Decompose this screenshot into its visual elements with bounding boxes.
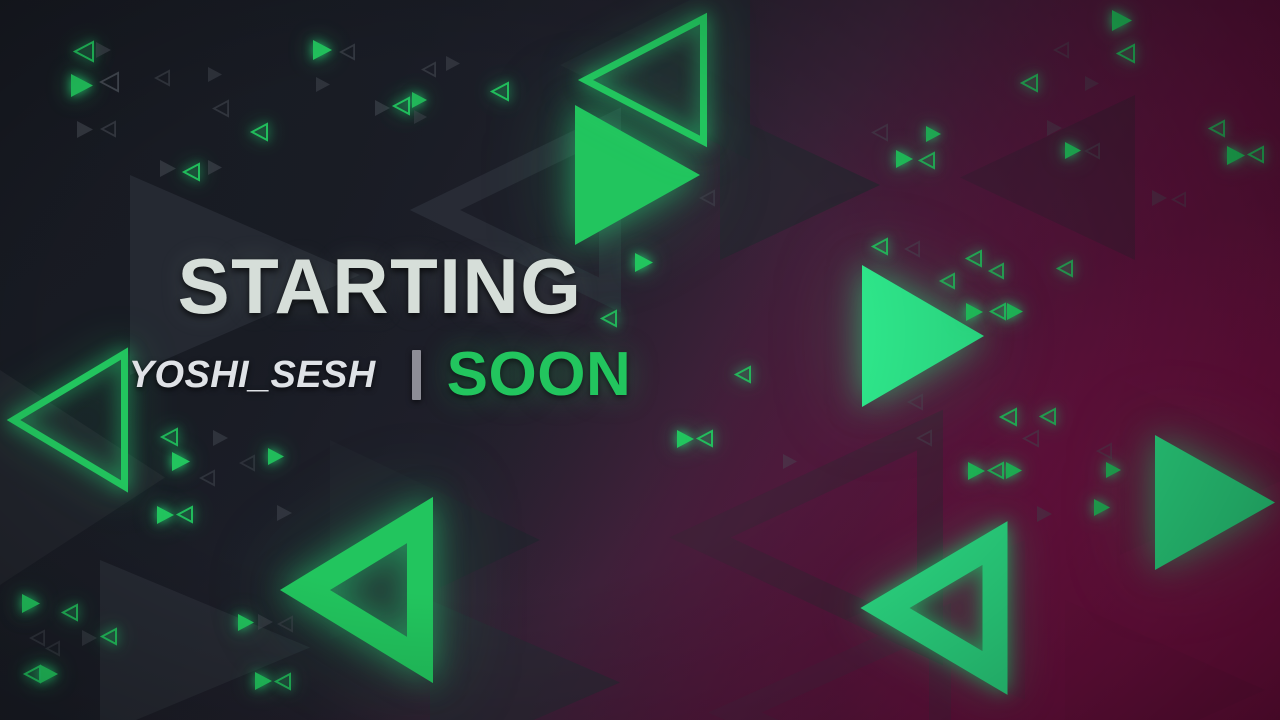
page-title: STARTING [178, 248, 583, 324]
stream-overlay-canvas: STARTING YOSHI_SESH SOON [0, 0, 1280, 720]
divider-bar [412, 350, 421, 400]
headline-block: STARTING YOSHI_SESH SOON [0, 248, 760, 406]
status-text: SOON [447, 344, 632, 406]
subtitle-row: YOSHI_SESH SOON [129, 344, 631, 406]
channel-name: YOSHI_SESH [129, 354, 376, 397]
